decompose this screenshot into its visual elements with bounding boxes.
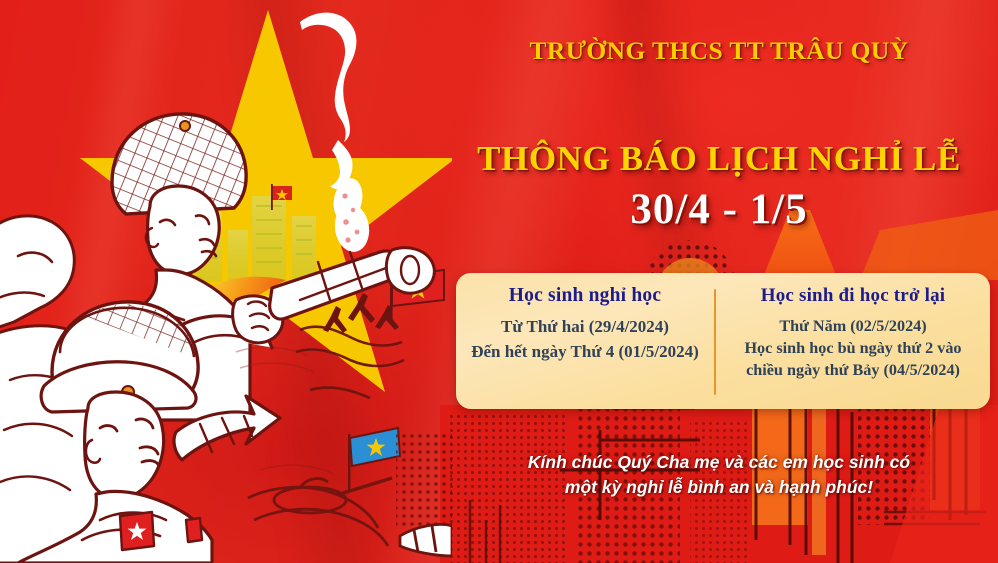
holiday-dates: 30/4 - 1/5	[440, 185, 998, 234]
collar-flag-badge	[120, 512, 154, 550]
card-students-return: Học sinh đi học trở lại Thứ Năm (02/5/20…	[716, 273, 990, 409]
card-students-off: Học sinh nghỉ học Từ Thứ hai (29/4/2024)…	[456, 273, 714, 409]
collar-patch	[186, 518, 202, 542]
closing-message: Kính chúc Quý Cha mẹ và các em học sinh …	[440, 450, 998, 501]
off-end-date: Đến hết ngày Thứ 4 (01/5/2024)	[462, 340, 708, 365]
page-title: THÔNG BÁO LỊCH NGHỈ LỄ	[440, 139, 998, 179]
tank-silhouette	[248, 478, 392, 546]
card-title-students-off: Học sinh nghỉ học	[462, 285, 708, 307]
propaganda-illustration	[0, 0, 452, 563]
makeup-class-note-line1: Học sinh học bù ngày thứ 2 vào	[722, 337, 984, 359]
off-start-date: Từ Thứ hai (29/4/2024)	[462, 315, 708, 340]
content-column: TRƯỜNG THCS TT TRÂU QUỲ THÔNG BÁO LỊCH N…	[440, 0, 998, 563]
return-date: Thứ Năm (02/5/2024)	[722, 315, 984, 337]
makeup-class-note-line2: chiều ngày thứ Bảy (04/5/2024)	[722, 359, 984, 381]
poster-canvas: TRƯỜNG THCS TT TRÂU QUỲ THÔNG BÁO LỊCH N…	[0, 0, 998, 563]
closing-message-line1: Kính chúc Quý Cha mẹ và các em học sinh …	[440, 450, 998, 475]
school-name: TRƯỜNG THCS TT TRÂU QUỲ	[440, 36, 998, 66]
closing-message-line2: một kỳ nghỉ lễ bình an và hạnh phúc!	[440, 475, 998, 500]
info-panel: Học sinh nghỉ học Từ Thứ hai (29/4/2024)…	[456, 273, 990, 409]
card-title-students-return: Học sinh đi học trở lại	[722, 285, 984, 307]
